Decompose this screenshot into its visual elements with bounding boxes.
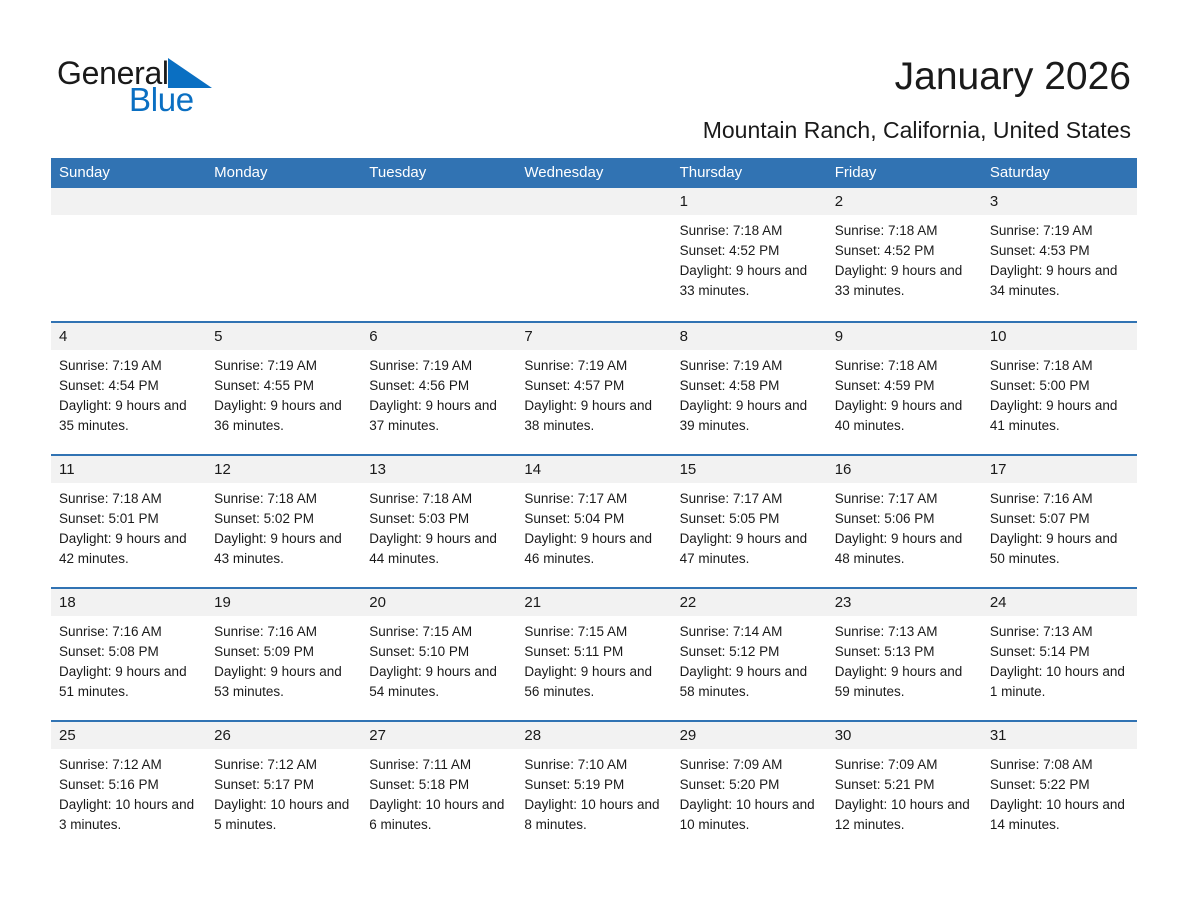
day-details: Sunrise: 7:18 AM Sunset: 4:52 PM Dayligh…: [827, 215, 982, 301]
sunset-text: Sunset: 5:04 PM: [524, 509, 663, 529]
sunset-text: Sunset: 5:09 PM: [214, 642, 353, 662]
calendar-day-cell[interactable]: 24 Sunrise: 7:13 AM Sunset: 5:14 PM Dayl…: [982, 589, 1137, 720]
day-details: Sunrise: 7:19 AM Sunset: 4:58 PM Dayligh…: [672, 350, 827, 436]
day-details: Sunrise: 7:13 AM Sunset: 5:13 PM Dayligh…: [827, 616, 982, 702]
calendar-day-cell[interactable]: 18 Sunrise: 7:16 AM Sunset: 5:08 PM Dayl…: [51, 589, 206, 720]
sunset-text: Sunset: 4:57 PM: [524, 376, 663, 396]
day-number: 18: [51, 589, 206, 616]
daylight-text: Daylight: 10 hours and 12 minutes.: [835, 795, 974, 835]
day-number: 20: [361, 589, 516, 616]
sunrise-text: Sunrise: 7:18 AM: [835, 356, 974, 376]
calendar-week-row: 18 Sunrise: 7:16 AM Sunset: 5:08 PM Dayl…: [51, 587, 1137, 720]
sunset-text: Sunset: 5:10 PM: [369, 642, 508, 662]
sunset-text: Sunset: 5:12 PM: [680, 642, 819, 662]
day-details: Sunrise: 7:12 AM Sunset: 5:16 PM Dayligh…: [51, 749, 206, 835]
sunset-text: Sunset: 5:22 PM: [990, 775, 1129, 795]
sunrise-text: Sunrise: 7:08 AM: [990, 755, 1129, 775]
sunset-text: Sunset: 5:02 PM: [214, 509, 353, 529]
sunset-text: Sunset: 5:18 PM: [369, 775, 508, 795]
daylight-text: Daylight: 9 hours and 58 minutes.: [680, 662, 819, 702]
calendar-day-cell[interactable]: 1 Sunrise: 7:18 AM Sunset: 4:52 PM Dayli…: [672, 188, 827, 321]
day-details: Sunrise: 7:19 AM Sunset: 4:55 PM Dayligh…: [206, 350, 361, 436]
daylight-text: Daylight: 9 hours and 35 minutes.: [59, 396, 198, 436]
sunrise-text: Sunrise: 7:17 AM: [835, 489, 974, 509]
sunrise-text: Sunrise: 7:09 AM: [680, 755, 819, 775]
sunset-text: Sunset: 5:11 PM: [524, 642, 663, 662]
day-details: Sunrise: 7:17 AM Sunset: 5:05 PM Dayligh…: [672, 483, 827, 569]
sunrise-text: Sunrise: 7:17 AM: [680, 489, 819, 509]
sunset-text: Sunset: 5:05 PM: [680, 509, 819, 529]
weekday-header-wednesday: Wednesday: [516, 158, 671, 188]
calendar-day-cell[interactable]: 16 Sunrise: 7:17 AM Sunset: 5:06 PM Dayl…: [827, 456, 982, 587]
day-number: 13: [361, 456, 516, 483]
day-details: Sunrise: 7:15 AM Sunset: 5:11 PM Dayligh…: [516, 616, 671, 702]
day-details: Sunrise: 7:17 AM Sunset: 5:06 PM Dayligh…: [827, 483, 982, 569]
calendar-page: General Blue January 2026 Mountain Ranch…: [0, 0, 1188, 918]
sunset-text: Sunset: 4:55 PM: [214, 376, 353, 396]
page-subtitle-location: Mountain Ranch, California, United State…: [703, 116, 1131, 144]
calendar-day-cell[interactable]: 15 Sunrise: 7:17 AM Sunset: 5:05 PM Dayl…: [672, 456, 827, 587]
day-number: 15: [672, 456, 827, 483]
sunrise-text: Sunrise: 7:13 AM: [835, 622, 974, 642]
calendar-day-cell[interactable]: 31 Sunrise: 7:08 AM Sunset: 5:22 PM Dayl…: [982, 722, 1137, 853]
calendar-day-cell[interactable]: 6 Sunrise: 7:19 AM Sunset: 4:56 PM Dayli…: [361, 323, 516, 454]
daylight-text: Daylight: 9 hours and 48 minutes.: [835, 529, 974, 569]
daylight-text: Daylight: 9 hours and 42 minutes.: [59, 529, 198, 569]
calendar-day-cell[interactable]: 22 Sunrise: 7:14 AM Sunset: 5:12 PM Dayl…: [672, 589, 827, 720]
day-number: 11: [51, 456, 206, 483]
calendar-day-cell: [361, 188, 516, 321]
day-number: 2: [827, 188, 982, 215]
daylight-text: Daylight: 10 hours and 1 minute.: [990, 662, 1129, 702]
sunset-text: Sunset: 5:14 PM: [990, 642, 1129, 662]
calendar-day-cell[interactable]: 20 Sunrise: 7:15 AM Sunset: 5:10 PM Dayl…: [361, 589, 516, 720]
day-number: 25: [51, 722, 206, 749]
calendar-day-cell[interactable]: 29 Sunrise: 7:09 AM Sunset: 5:20 PM Dayl…: [672, 722, 827, 853]
day-number: 17: [982, 456, 1137, 483]
weekday-header-row: Sunday Monday Tuesday Wednesday Thursday…: [51, 158, 1137, 188]
day-number: 23: [827, 589, 982, 616]
day-number: 31: [982, 722, 1137, 749]
sunrise-text: Sunrise: 7:19 AM: [214, 356, 353, 376]
day-details: Sunrise: 7:13 AM Sunset: 5:14 PM Dayligh…: [982, 616, 1137, 702]
sunrise-text: Sunrise: 7:16 AM: [59, 622, 198, 642]
daylight-text: Daylight: 9 hours and 59 minutes.: [835, 662, 974, 702]
daylight-text: Daylight: 9 hours and 33 minutes.: [835, 261, 974, 301]
calendar-day-cell[interactable]: 23 Sunrise: 7:13 AM Sunset: 5:13 PM Dayl…: [827, 589, 982, 720]
daylight-text: Daylight: 9 hours and 54 minutes.: [369, 662, 508, 702]
day-details: Sunrise: 7:16 AM Sunset: 5:07 PM Dayligh…: [982, 483, 1137, 569]
day-number: 6: [361, 323, 516, 350]
calendar-day-cell[interactable]: 25 Sunrise: 7:12 AM Sunset: 5:16 PM Dayl…: [51, 722, 206, 853]
daylight-text: Daylight: 9 hours and 38 minutes.: [524, 396, 663, 436]
calendar-grid: Sunday Monday Tuesday Wednesday Thursday…: [51, 158, 1137, 853]
calendar-day-cell: [516, 188, 671, 321]
sunset-text: Sunset: 5:01 PM: [59, 509, 198, 529]
day-details: Sunrise: 7:18 AM Sunset: 5:01 PM Dayligh…: [51, 483, 206, 569]
sunrise-text: Sunrise: 7:19 AM: [524, 356, 663, 376]
day-details: Sunrise: 7:18 AM Sunset: 4:59 PM Dayligh…: [827, 350, 982, 436]
day-details: Sunrise: 7:11 AM Sunset: 5:18 PM Dayligh…: [361, 749, 516, 835]
weekday-header-saturday: Saturday: [982, 158, 1137, 188]
sunset-text: Sunset: 4:54 PM: [59, 376, 198, 396]
day-number: 10: [982, 323, 1137, 350]
daylight-text: Daylight: 10 hours and 6 minutes.: [369, 795, 508, 835]
sunrise-text: Sunrise: 7:15 AM: [369, 622, 508, 642]
calendar-day-cell: [206, 188, 361, 321]
day-details: Sunrise: 7:16 AM Sunset: 5:08 PM Dayligh…: [51, 616, 206, 702]
day-number: 14: [516, 456, 671, 483]
sunrise-text: Sunrise: 7:19 AM: [680, 356, 819, 376]
page-title: January 2026: [895, 54, 1131, 100]
sunset-text: Sunset: 5:21 PM: [835, 775, 974, 795]
day-number: [51, 188, 206, 215]
day-number: 27: [361, 722, 516, 749]
sunset-text: Sunset: 5:06 PM: [835, 509, 974, 529]
sunset-text: Sunset: 5:03 PM: [369, 509, 508, 529]
weekday-header-tuesday: Tuesday: [361, 158, 516, 188]
sunset-text: Sunset: 5:07 PM: [990, 509, 1129, 529]
calendar-day-cell[interactable]: 10 Sunrise: 7:18 AM Sunset: 5:00 PM Dayl…: [982, 323, 1137, 454]
day-details: Sunrise: 7:16 AM Sunset: 5:09 PM Dayligh…: [206, 616, 361, 702]
logo-text-blue: Blue: [129, 82, 194, 118]
calendar-day-cell[interactable]: 9 Sunrise: 7:18 AM Sunset: 4:59 PM Dayli…: [827, 323, 982, 454]
calendar-week-row: 25 Sunrise: 7:12 AM Sunset: 5:16 PM Dayl…: [51, 720, 1137, 853]
weekday-header-friday: Friday: [827, 158, 982, 188]
day-details: Sunrise: 7:10 AM Sunset: 5:19 PM Dayligh…: [516, 749, 671, 835]
calendar-day-cell[interactable]: 4 Sunrise: 7:19 AM Sunset: 4:54 PM Dayli…: [51, 323, 206, 454]
day-number: 12: [206, 456, 361, 483]
calendar-day-cell[interactable]: 5 Sunrise: 7:19 AM Sunset: 4:55 PM Dayli…: [206, 323, 361, 454]
sunrise-text: Sunrise: 7:18 AM: [680, 221, 819, 241]
daylight-text: Daylight: 9 hours and 41 minutes.: [990, 396, 1129, 436]
sunset-text: Sunset: 4:58 PM: [680, 376, 819, 396]
daylight-text: Daylight: 9 hours and 47 minutes.: [680, 529, 819, 569]
sunrise-text: Sunrise: 7:11 AM: [369, 755, 508, 775]
sunrise-text: Sunrise: 7:18 AM: [990, 356, 1129, 376]
daylight-text: Daylight: 9 hours and 53 minutes.: [214, 662, 353, 702]
day-number: 16: [827, 456, 982, 483]
daylight-text: Daylight: 9 hours and 40 minutes.: [835, 396, 974, 436]
sunrise-text: Sunrise: 7:15 AM: [524, 622, 663, 642]
daylight-text: Daylight: 9 hours and 50 minutes.: [990, 529, 1129, 569]
daylight-text: Daylight: 10 hours and 14 minutes.: [990, 795, 1129, 835]
sunset-text: Sunset: 5:20 PM: [680, 775, 819, 795]
day-details: Sunrise: 7:09 AM Sunset: 5:20 PM Dayligh…: [672, 749, 827, 835]
daylight-text: Daylight: 9 hours and 33 minutes.: [680, 261, 819, 301]
calendar-day-cell[interactable]: 3 Sunrise: 7:19 AM Sunset: 4:53 PM Dayli…: [982, 188, 1137, 321]
calendar-day-cell[interactable]: 7 Sunrise: 7:19 AM Sunset: 4:57 PM Dayli…: [516, 323, 671, 454]
day-details: Sunrise: 7:19 AM Sunset: 4:54 PM Dayligh…: [51, 350, 206, 436]
day-number: 8: [672, 323, 827, 350]
day-details: Sunrise: 7:09 AM Sunset: 5:21 PM Dayligh…: [827, 749, 982, 835]
sunset-text: Sunset: 5:19 PM: [524, 775, 663, 795]
calendar-day-cell[interactable]: 19 Sunrise: 7:16 AM Sunset: 5:09 PM Dayl…: [206, 589, 361, 720]
calendar-week-row: 1 Sunrise: 7:18 AM Sunset: 4:52 PM Dayli…: [51, 188, 1137, 321]
sunrise-text: Sunrise: 7:12 AM: [214, 755, 353, 775]
sunrise-text: Sunrise: 7:13 AM: [990, 622, 1129, 642]
daylight-text: Daylight: 9 hours and 34 minutes.: [990, 261, 1129, 301]
calendar-day-cell[interactable]: 26 Sunrise: 7:12 AM Sunset: 5:17 PM Dayl…: [206, 722, 361, 853]
day-details: Sunrise: 7:18 AM Sunset: 5:02 PM Dayligh…: [206, 483, 361, 569]
day-number: 3: [982, 188, 1137, 215]
day-number: 30: [827, 722, 982, 749]
sunrise-text: Sunrise: 7:16 AM: [214, 622, 353, 642]
day-number: [206, 188, 361, 215]
sunset-text: Sunset: 5:08 PM: [59, 642, 198, 662]
sunrise-text: Sunrise: 7:18 AM: [369, 489, 508, 509]
day-details: Sunrise: 7:12 AM Sunset: 5:17 PM Dayligh…: [206, 749, 361, 835]
daylight-text: Daylight: 10 hours and 3 minutes.: [59, 795, 198, 835]
day-details: Sunrise: 7:18 AM Sunset: 5:03 PM Dayligh…: [361, 483, 516, 569]
daylight-text: Daylight: 9 hours and 56 minutes.: [524, 662, 663, 702]
day-details: Sunrise: 7:08 AM Sunset: 5:22 PM Dayligh…: [982, 749, 1137, 835]
sunset-text: Sunset: 4:59 PM: [835, 376, 974, 396]
day-number: 22: [672, 589, 827, 616]
day-details: Sunrise: 7:18 AM Sunset: 4:52 PM Dayligh…: [672, 215, 827, 301]
page-header: General Blue January 2026 Mountain Ranch…: [0, 0, 1188, 158]
day-details: Sunrise: 7:15 AM Sunset: 5:10 PM Dayligh…: [361, 616, 516, 702]
day-number: 5: [206, 323, 361, 350]
calendar-day-cell[interactable]: 17 Sunrise: 7:16 AM Sunset: 5:07 PM Dayl…: [982, 456, 1137, 587]
sunset-text: Sunset: 5:13 PM: [835, 642, 974, 662]
calendar-day-cell: [51, 188, 206, 321]
calendar-day-cell[interactable]: 28 Sunrise: 7:10 AM Sunset: 5:19 PM Dayl…: [516, 722, 671, 853]
calendar-day-cell[interactable]: 2 Sunrise: 7:18 AM Sunset: 4:52 PM Dayli…: [827, 188, 982, 321]
day-number: 24: [982, 589, 1137, 616]
sunset-text: Sunset: 5:16 PM: [59, 775, 198, 795]
sunrise-text: Sunrise: 7:18 AM: [59, 489, 198, 509]
weekday-header-thursday: Thursday: [672, 158, 827, 188]
daylight-text: Daylight: 9 hours and 37 minutes.: [369, 396, 508, 436]
sunset-text: Sunset: 4:53 PM: [990, 241, 1129, 261]
calendar-day-cell[interactable]: 11 Sunrise: 7:18 AM Sunset: 5:01 PM Dayl…: [51, 456, 206, 587]
day-number: 28: [516, 722, 671, 749]
daylight-text: Daylight: 10 hours and 8 minutes.: [524, 795, 663, 835]
day-number: 19: [206, 589, 361, 616]
sunrise-text: Sunrise: 7:14 AM: [680, 622, 819, 642]
day-number: 7: [516, 323, 671, 350]
calendar-day-cell[interactable]: 8 Sunrise: 7:19 AM Sunset: 4:58 PM Dayli…: [672, 323, 827, 454]
sunrise-text: Sunrise: 7:12 AM: [59, 755, 198, 775]
calendar-day-cell[interactable]: 12 Sunrise: 7:18 AM Sunset: 5:02 PM Dayl…: [206, 456, 361, 587]
daylight-text: Daylight: 10 hours and 5 minutes.: [214, 795, 353, 835]
calendar-day-cell[interactable]: 21 Sunrise: 7:15 AM Sunset: 5:11 PM Dayl…: [516, 589, 671, 720]
day-number: [516, 188, 671, 215]
day-details: Sunrise: 7:19 AM Sunset: 4:57 PM Dayligh…: [516, 350, 671, 436]
sunrise-text: Sunrise: 7:10 AM: [524, 755, 663, 775]
day-details: Sunrise: 7:14 AM Sunset: 5:12 PM Dayligh…: [672, 616, 827, 702]
calendar-day-cell[interactable]: 13 Sunrise: 7:18 AM Sunset: 5:03 PM Dayl…: [361, 456, 516, 587]
daylight-text: Daylight: 10 hours and 10 minutes.: [680, 795, 819, 835]
daylight-text: Daylight: 9 hours and 46 minutes.: [524, 529, 663, 569]
weekday-header-sunday: Sunday: [51, 158, 206, 188]
sunset-text: Sunset: 4:52 PM: [835, 241, 974, 261]
daylight-text: Daylight: 9 hours and 43 minutes.: [214, 529, 353, 569]
sunset-text: Sunset: 4:56 PM: [369, 376, 508, 396]
sunset-text: Sunset: 5:00 PM: [990, 376, 1129, 396]
calendar-week-row: 4 Sunrise: 7:19 AM Sunset: 4:54 PM Dayli…: [51, 321, 1137, 454]
sunrise-text: Sunrise: 7:19 AM: [369, 356, 508, 376]
day-number: [361, 188, 516, 215]
sunrise-text: Sunrise: 7:16 AM: [990, 489, 1129, 509]
sunrise-text: Sunrise: 7:18 AM: [214, 489, 353, 509]
day-number: 9: [827, 323, 982, 350]
sunrise-text: Sunrise: 7:19 AM: [59, 356, 198, 376]
daylight-text: Daylight: 9 hours and 36 minutes.: [214, 396, 353, 436]
weekday-header-monday: Monday: [206, 158, 361, 188]
calendar-day-cell[interactable]: 14 Sunrise: 7:17 AM Sunset: 5:04 PM Dayl…: [516, 456, 671, 587]
sunrise-text: Sunrise: 7:17 AM: [524, 489, 663, 509]
daylight-text: Daylight: 9 hours and 39 minutes.: [680, 396, 819, 436]
calendar-week-row: 11 Sunrise: 7:18 AM Sunset: 5:01 PM Dayl…: [51, 454, 1137, 587]
day-number: 1: [672, 188, 827, 215]
sunrise-text: Sunrise: 7:09 AM: [835, 755, 974, 775]
calendar-day-cell[interactable]: 30 Sunrise: 7:09 AM Sunset: 5:21 PM Dayl…: [827, 722, 982, 853]
sunrise-text: Sunrise: 7:19 AM: [990, 221, 1129, 241]
day-number: 4: [51, 323, 206, 350]
day-details: Sunrise: 7:18 AM Sunset: 5:00 PM Dayligh…: [982, 350, 1137, 436]
day-number: 26: [206, 722, 361, 749]
sunrise-text: Sunrise: 7:18 AM: [835, 221, 974, 241]
daylight-text: Daylight: 9 hours and 51 minutes.: [59, 662, 198, 702]
calendar-day-cell[interactable]: 27 Sunrise: 7:11 AM Sunset: 5:18 PM Dayl…: [361, 722, 516, 853]
daylight-text: Daylight: 9 hours and 44 minutes.: [369, 529, 508, 569]
sunset-text: Sunset: 5:17 PM: [214, 775, 353, 795]
generalblue-logo[interactable]: General Blue: [57, 52, 277, 124]
day-number: 21: [516, 589, 671, 616]
day-details: Sunrise: 7:17 AM Sunset: 5:04 PM Dayligh…: [516, 483, 671, 569]
sunset-text: Sunset: 4:52 PM: [680, 241, 819, 261]
day-details: Sunrise: 7:19 AM Sunset: 4:56 PM Dayligh…: [361, 350, 516, 436]
day-number: 29: [672, 722, 827, 749]
day-details: Sunrise: 7:19 AM Sunset: 4:53 PM Dayligh…: [982, 215, 1137, 301]
